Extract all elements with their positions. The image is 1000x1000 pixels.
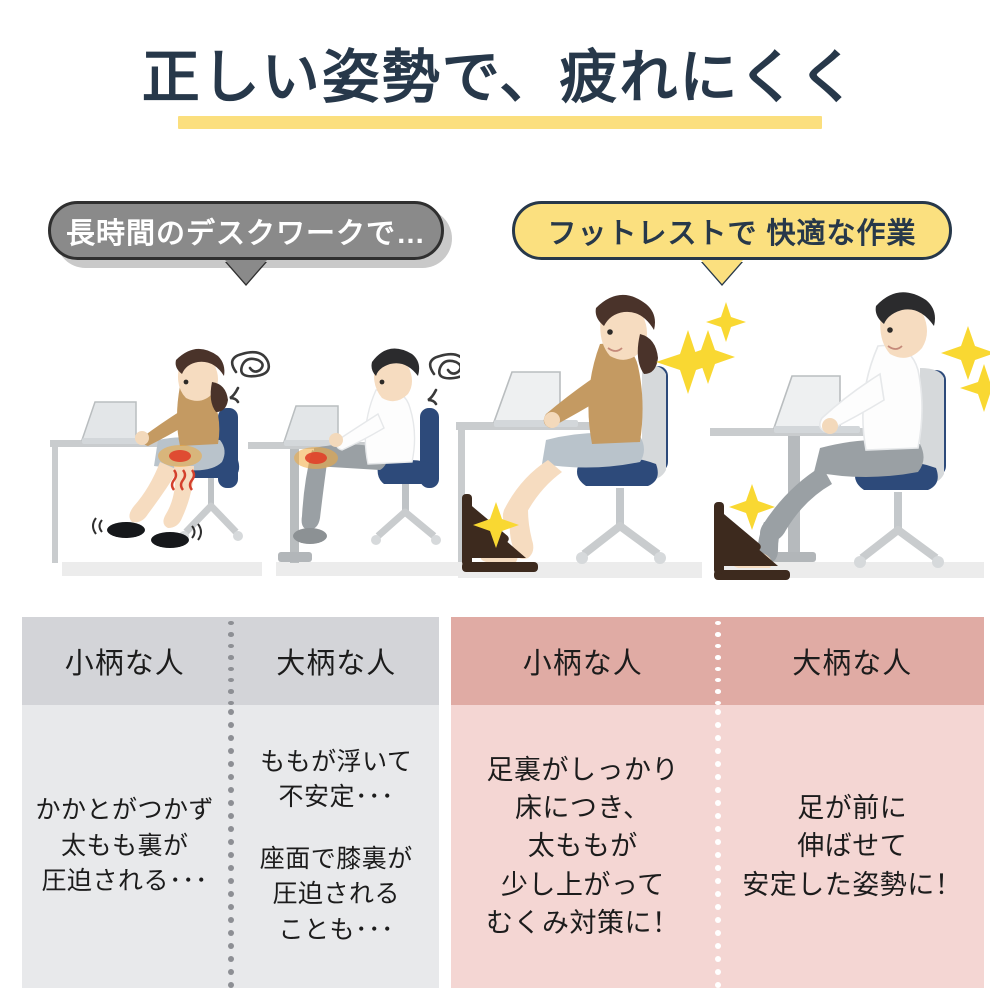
chair-wheel: [854, 556, 866, 568]
bubble-tail-icon: [225, 260, 267, 284]
table-body-row: かかとがつかず 太もも裏が 圧迫される･･･ ももが浮いて 不安定･･･ 座面で…: [22, 705, 439, 988]
footrest-base: [462, 562, 538, 572]
ponytail: [211, 382, 228, 412]
comparison-table-problem: 小柄な人 大柄な人 かかとがつかず 太もも裏が 圧迫される･･･ ももが浮いて …: [22, 617, 439, 979]
cell-paragraph: 座面で膝裏が 圧迫される ことも･･･: [260, 842, 413, 949]
page-title: 正しい姿勢で、疲れにくく: [0, 48, 1000, 115]
comparison-table-solution: 小柄な人 大柄な人 足裏がしっかり 床につき、 太ももが 少し上がって むくみ対…: [451, 617, 984, 979]
table-cell-large-build: ももが浮いて 不安定･･･ 座面で膝裏が 圧迫される ことも･･･: [234, 705, 440, 988]
chair-wheel: [371, 535, 381, 545]
hand: [822, 418, 838, 434]
desk-foot: [278, 552, 312, 562]
speech-bubble-problem: 長時間のデスクワークで…: [48, 201, 444, 260]
column-header-small-build: 小柄な人: [22, 617, 228, 705]
figure-woman-no-footrest: [50, 349, 269, 563]
pain-core: [169, 450, 191, 462]
eye: [380, 380, 385, 385]
eye: [184, 380, 189, 385]
hand: [329, 433, 343, 447]
chair-base: [378, 512, 434, 536]
table-header-row: 小柄な人 大柄な人: [451, 617, 984, 705]
footrest-base: [714, 570, 790, 580]
table-body-row: 足裏がしっかり 床につき、 太ももが 少し上がって むくみ対策に！ 足が前に 伸…: [451, 705, 984, 988]
page-title-text: 正しい姿勢で、疲れにくく: [128, 48, 873, 115]
column-header-small-build: 小柄な人: [451, 617, 715, 705]
chair-wheel: [932, 556, 944, 568]
chair-base: [862, 530, 936, 558]
chair-wheel: [576, 552, 588, 564]
chair-base: [584, 526, 658, 554]
chair-wheel: [654, 552, 666, 564]
cell-paragraph: 足裏がしっかり 床につき、 太ももが 少し上がって むくみ対策に！: [486, 751, 680, 943]
table-cell-small-build: かかとがつかず 太もも裏が 圧迫される･･･: [22, 705, 228, 988]
illustration-group-with-footrest: [450, 280, 990, 590]
shoe: [293, 528, 327, 544]
chair-wheel: [431, 535, 441, 545]
figure-man-no-footrest: [248, 349, 460, 563]
column-header-large-build: 大柄な人: [721, 617, 985, 705]
table-cell-large-build: 足が前に 伸ばせて 安定した姿勢に！: [721, 705, 985, 988]
laptop-screen: [82, 402, 136, 440]
desk-leg: [290, 449, 299, 563]
speech-bubble-problem-label: 長時間のデスクワークで…: [66, 210, 426, 252]
chair-wheel: [233, 531, 243, 541]
laptop-keyboard: [494, 420, 578, 427]
floor-strip: [276, 562, 458, 576]
infographic-page: 正しい姿勢で、疲れにくく 長時間のデスクワークで… フットレストで 快適な作業: [0, 0, 1000, 1000]
cell-paragraph: 足が前に 伸ばせて 安定した姿勢に！: [742, 789, 962, 904]
floor-strip: [62, 562, 262, 576]
illustration-group-without-footrest: [40, 290, 460, 590]
eye: [887, 327, 893, 333]
laptop-keyboard: [774, 426, 860, 433]
cell-paragraph: かかとがつかず 太もも裏が 圧迫される･･･: [35, 793, 214, 900]
speech-bubble-solution-label: フットレストで 快適な作業: [547, 210, 916, 252]
hand: [544, 412, 560, 428]
speech-bubble-solution: フットレストで 快適な作業: [512, 201, 952, 260]
figure-woman-with-footrest: [456, 295, 746, 572]
title-underline: [178, 116, 822, 129]
bubble-tail-icon: [701, 260, 743, 284]
desk-leg: [52, 447, 58, 563]
desk-foot: [772, 552, 816, 562]
column-header-large-build: 大柄な人: [234, 617, 440, 705]
shoe: [151, 532, 189, 548]
table-cell-small-build: 足裏がしっかり 床につき、 太ももが 少し上がって むくみ対策に！: [451, 705, 715, 988]
cell-paragraph: ももが浮いて 不安定･･･: [260, 745, 412, 816]
eye: [607, 329, 613, 335]
hand: [135, 431, 149, 445]
table-header-row: 小柄な人 大柄な人: [22, 617, 439, 705]
shoe: [107, 522, 145, 538]
pain-core: [305, 452, 327, 464]
stress-scribble-icon: [230, 352, 269, 402]
